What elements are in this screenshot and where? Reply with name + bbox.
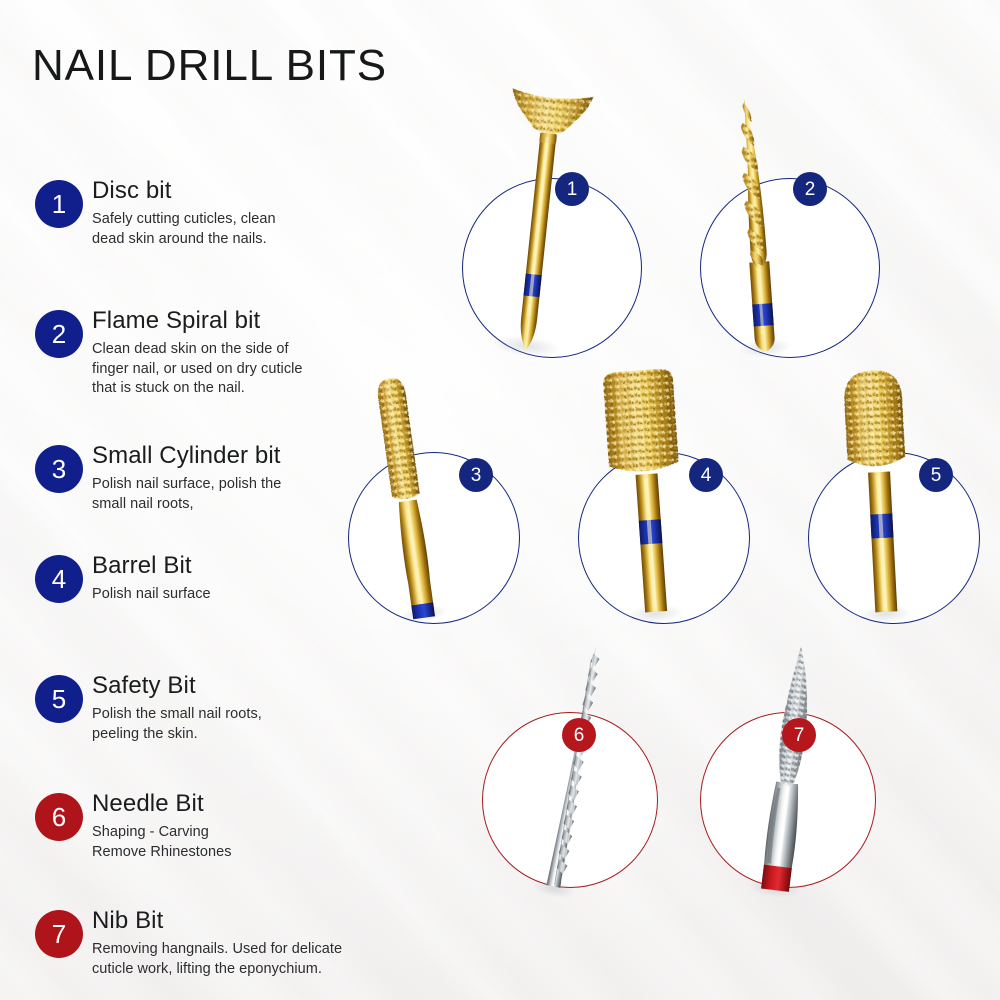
legend-title-5: Safety Bit	[92, 671, 360, 701]
callout-circle-4	[578, 452, 750, 624]
legend-desc-6-line-2: Remove Rhinestones	[92, 843, 360, 863]
legend-text-3: Small Cylinder bit Polish nail surface, …	[92, 441, 360, 514]
legend-desc-3-line-2: small nail roots,	[92, 495, 360, 515]
legend-badge-5: 5	[35, 675, 83, 723]
legend-desc-5-line-1: Polish the small nail roots,	[92, 705, 360, 725]
callout-ring-3	[348, 452, 520, 624]
legend-desc-2-line-1: Clean dead skin on the side of	[92, 340, 360, 360]
legend-desc-2-line-3: that is stuck on the nail.	[92, 379, 360, 399]
callout-ring-5	[808, 452, 980, 624]
legend-desc-6-line-1: Shaping - Carving	[92, 823, 360, 843]
legend-badge-7: 7	[35, 910, 83, 958]
product-bit-6-needle-bit	[501, 631, 649, 907]
legend-badge-1: 1	[35, 180, 83, 228]
legend-desc-4: Polish nail surface	[92, 585, 360, 605]
callout-ring-1	[462, 178, 642, 358]
callout-ring-7	[700, 712, 876, 888]
legend-desc-7-line-2: cuticle work, lifting the eponychium.	[92, 960, 360, 980]
legend-desc-1: Safely cutting cuticles, clean dead skin…	[92, 210, 360, 249]
legend-desc-1-line-1: Safely cutting cuticles, clean	[92, 210, 360, 230]
legend-desc-7-line-1: Removing hangnails. Used for delicate	[92, 940, 360, 960]
product-bit-4-barrel-bit	[580, 359, 708, 628]
callout-circle-5	[808, 452, 980, 624]
legend-desc-7: Removing hangnails. Used for delicate cu…	[92, 940, 360, 979]
callout-badge-2[interactable]: 2	[793, 172, 827, 206]
legend-desc-6: Shaping - Carving Remove Rhinestones	[92, 823, 360, 862]
legend-desc-3: Polish nail surface, polish the small na…	[92, 475, 360, 514]
product-bit-1-disc-bit	[470, 84, 608, 364]
callout-ring-6	[482, 712, 658, 888]
callout-badge-3[interactable]: 3	[459, 458, 493, 492]
callout-circle-6	[482, 712, 658, 888]
callout-badge-7[interactable]: 7	[782, 718, 816, 752]
legend-badge-6: 6	[35, 793, 83, 841]
legend-text-4: Barrel Bit Polish nail surface	[92, 551, 360, 605]
legend-desc-5: Polish the small nail roots, peeling the…	[92, 705, 360, 744]
page-title: NAIL DRILL BITS	[32, 41, 387, 91]
legend-desc-5-line-2: peeling the skin.	[92, 725, 360, 745]
callout-circle-2	[700, 178, 880, 358]
legend-text-7: Nib Bit Removing hangnails. Used for del…	[92, 906, 360, 979]
callout-badge-6[interactable]: 6	[562, 718, 596, 752]
legend-badge-2: 2	[35, 310, 83, 358]
product-bit-5-safety-bit	[818, 360, 936, 627]
legend-title-4: Barrel Bit	[92, 551, 360, 581]
legend-badge-3: 3	[35, 445, 83, 493]
legend-desc-3-line-1: Polish nail surface, polish the	[92, 475, 360, 495]
legend-title-2: Flame Spiral bit	[92, 306, 360, 336]
callout-circle-1	[462, 178, 642, 358]
legend-text-1: Disc bit Safely cutting cuticles, clean …	[92, 176, 360, 249]
callout-circle-7	[700, 712, 876, 888]
legend-text-6: Needle Bit Shaping - Carving Remove Rhin…	[92, 789, 360, 862]
legend-badge-4: 4	[35, 555, 83, 603]
legend-title-3: Small Cylinder bit	[92, 441, 360, 471]
legend-desc-1-line-2: dead skin around the nails.	[92, 230, 360, 250]
legend-desc-2-line-2: finger nail, or used on dry cuticle	[92, 360, 360, 380]
callout-ring-2	[700, 178, 880, 358]
callout-circle-3	[348, 452, 520, 624]
product-bit-7-nib-bit	[718, 633, 859, 904]
callout-badge-4[interactable]: 4	[689, 458, 723, 492]
callout-ring-4	[578, 452, 750, 624]
legend-text-2: Flame Spiral bit Clean dead skin on the …	[92, 306, 360, 399]
legend-desc-2: Clean dead skin on the side of finger na…	[92, 340, 360, 399]
product-bit-3-small-cylinder-bit	[343, 364, 468, 630]
legend-title-7: Nib Bit	[92, 906, 360, 936]
legend-text-5: Safety Bit Polish the small nail roots, …	[92, 671, 360, 744]
callout-badge-1[interactable]: 1	[555, 172, 589, 206]
callout-badge-5[interactable]: 5	[919, 458, 953, 492]
legend-title-6: Needle Bit	[92, 789, 360, 819]
legend-title-1: Disc bit	[92, 176, 360, 206]
product-bit-2-flame-spiral-bit	[694, 89, 812, 361]
legend-desc-4-line-1: Polish nail surface	[92, 585, 360, 605]
infographic-page: NAIL DRILL BITS 1 Disc bit Safely cuttin…	[0, 0, 1000, 1000]
